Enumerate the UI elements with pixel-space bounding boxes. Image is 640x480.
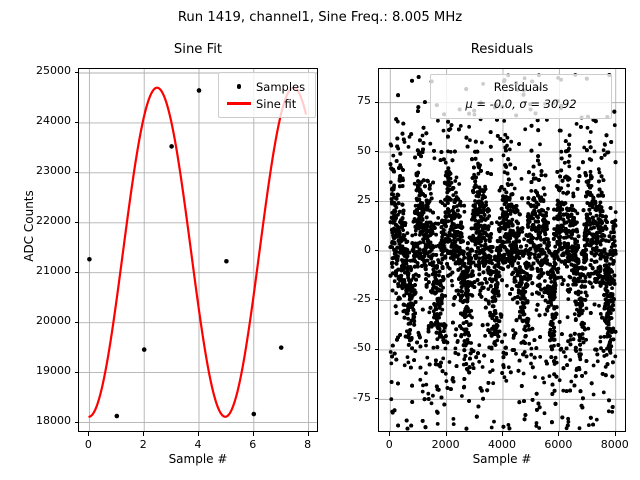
residuals-legend: Residuals μ = -0.0, σ = 30.92 bbox=[430, 74, 612, 119]
tick-mark bbox=[75, 322, 79, 323]
y-tick-label: 23000 bbox=[11, 164, 71, 177]
tick-mark bbox=[389, 432, 390, 436]
sine-fit-line-icon bbox=[226, 102, 252, 104]
tick-mark bbox=[75, 172, 79, 173]
left-panel-title: Sine Fit bbox=[78, 42, 318, 57]
y-tick-label: 24000 bbox=[11, 114, 71, 127]
y-tick-label: -75 bbox=[311, 391, 371, 404]
y-tick-label: 75 bbox=[311, 94, 371, 107]
y-tick-label: 19000 bbox=[11, 364, 71, 377]
legend-label-sine-fit: Sine fit bbox=[256, 97, 296, 111]
y-tick-label: 22000 bbox=[11, 214, 71, 227]
tick-mark bbox=[375, 398, 379, 399]
tick-mark bbox=[88, 432, 89, 436]
tick-mark bbox=[198, 432, 199, 436]
tick-mark bbox=[375, 151, 379, 152]
legend-entry-sine-fit: Sine fit bbox=[226, 95, 308, 112]
tick-mark bbox=[375, 250, 379, 251]
samples-marker-icon bbox=[226, 84, 252, 88]
tick-mark bbox=[375, 201, 379, 202]
tick-mark bbox=[75, 422, 79, 423]
tick-mark bbox=[75, 272, 79, 273]
tick-mark bbox=[375, 102, 379, 103]
left-y-axis-label: ADC Counts bbox=[22, 156, 36, 296]
tick-mark bbox=[75, 222, 79, 223]
tick-mark bbox=[502, 432, 503, 436]
y-tick-label: -25 bbox=[311, 292, 371, 305]
tick-mark bbox=[446, 432, 447, 436]
tick-mark bbox=[558, 432, 559, 436]
tick-mark bbox=[375, 349, 379, 350]
legend-entry-samples: Samples bbox=[226, 78, 308, 95]
tick-mark bbox=[615, 432, 616, 436]
residuals-legend-title: Residuals bbox=[437, 79, 605, 96]
figure-suptitle: Run 1419, channel1, Sine Freq.: 8.005 MH… bbox=[0, 10, 640, 25]
y-tick-label: 25000 bbox=[11, 64, 71, 77]
right-x-axis-label: Sample # bbox=[378, 452, 626, 466]
legend-label-samples: Samples bbox=[256, 80, 305, 94]
y-tick-label: -50 bbox=[311, 341, 371, 354]
tick-mark bbox=[75, 372, 79, 373]
x-tick-label: 8 bbox=[273, 438, 343, 451]
y-tick-label: 50 bbox=[311, 144, 371, 157]
y-tick-label: 21000 bbox=[11, 264, 71, 277]
figure-canvas: Run 1419, channel1, Sine Freq.: 8.005 MH… bbox=[0, 0, 640, 480]
y-tick-label: 20000 bbox=[11, 314, 71, 327]
x-tick-label: 8000 bbox=[580, 438, 640, 451]
residuals-plot-area bbox=[378, 68, 626, 432]
tick-mark bbox=[75, 72, 79, 73]
right-panel-title: Residuals bbox=[378, 42, 626, 57]
tick-mark bbox=[253, 432, 254, 436]
sine-fit-plot-area bbox=[78, 68, 318, 432]
y-tick-label: 18000 bbox=[11, 414, 71, 427]
residuals-svg bbox=[379, 69, 626, 432]
sine-fit-legend: Samples Sine fit bbox=[218, 72, 316, 118]
left-x-axis-label: Sample # bbox=[78, 452, 318, 466]
y-tick-label: 0 bbox=[311, 243, 371, 256]
y-tick-label: 25 bbox=[311, 193, 371, 206]
tick-mark bbox=[143, 432, 144, 436]
tick-mark bbox=[375, 299, 379, 300]
residuals-legend-stats: μ = -0.0, σ = 30.92 bbox=[437, 96, 605, 113]
sine-fit-svg bbox=[79, 69, 318, 432]
tick-mark bbox=[75, 122, 79, 123]
tick-mark bbox=[308, 432, 309, 436]
